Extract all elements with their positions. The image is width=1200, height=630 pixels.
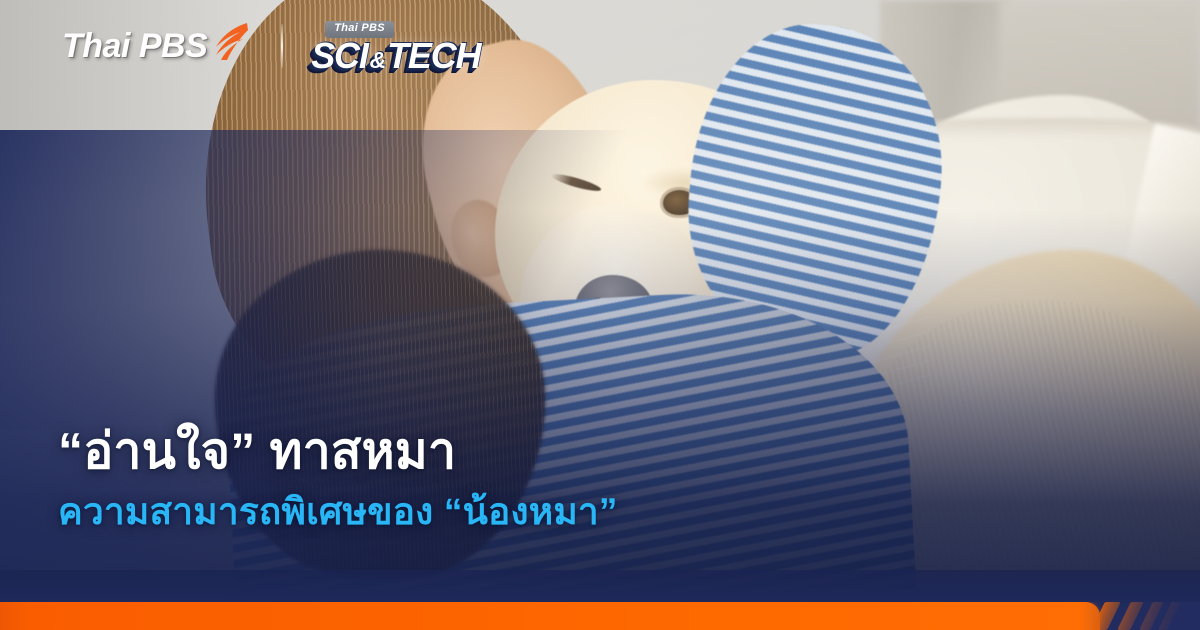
photo-highlight	[0, 0, 1200, 630]
article-cover-banner: Thai PBS Thai PBS SCI & TECH “อ่านใจ” ทา…	[0, 0, 1200, 630]
scitech-word-tech: TECH	[387, 39, 480, 73]
footer-accent-bar	[0, 602, 1200, 630]
logo-divider	[281, 24, 283, 68]
scitech-wordmark: SCI & TECH	[311, 39, 480, 73]
scitech-word-sci: SCI	[311, 39, 367, 73]
subheadline: ความสามารถพิเศษของ “น้องหมา”	[58, 490, 758, 534]
thaipbs-swoosh-icon	[207, 21, 249, 61]
headline: “อ่านใจ” ทาสหมา	[58, 423, 758, 480]
scitech-logo[interactable]: Thai PBS SCI & TECH	[311, 21, 480, 73]
footer-fade	[1080, 602, 1200, 630]
header-logo-bar: Thai PBS Thai PBS SCI & TECH	[0, 0, 1200, 92]
title-block: “อ่านใจ” ทาสหมา ความสามารถพิเศษของ “น้อง…	[58, 423, 758, 534]
thaipbs-logo[interactable]: Thai PBS	[62, 29, 249, 63]
scitech-ampersand: &	[370, 50, 385, 72]
thaipbs-wordmark: Thai PBS	[62, 29, 207, 63]
footer-orange-bar	[0, 602, 1100, 630]
hero-photo	[0, 0, 1200, 630]
